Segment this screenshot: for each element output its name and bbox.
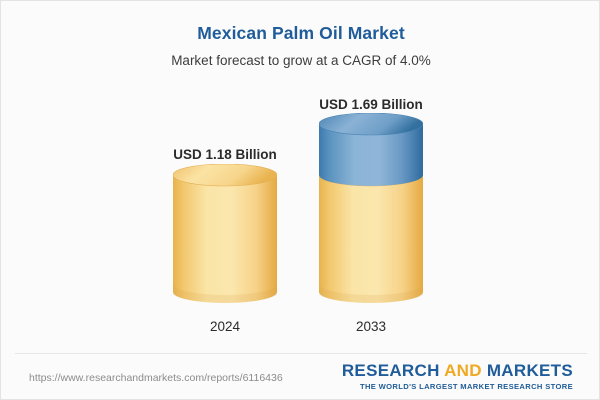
bar-2024-cylinder xyxy=(173,164,277,303)
plot-area: USD 1.18 Billion xyxy=(1,1,600,353)
footer-divider xyxy=(15,353,587,354)
bar-category-label-2033: 2033 xyxy=(271,319,471,334)
bar-2024[interactable] xyxy=(173,164,277,308)
logo-word-research: RESEARCH xyxy=(342,361,440,380)
bar-value-label-2033: USD 1.69 Billion xyxy=(271,97,471,112)
logo-word-markets: MARKETS xyxy=(487,361,573,380)
bar-2033-cylinder xyxy=(319,113,423,303)
source-url[interactable]: https://www.researchandmarkets.com/repor… xyxy=(29,372,283,384)
researchandmarkets-logo[interactable]: RESEARCH AND MARKETS THE WORLD'S LARGEST… xyxy=(342,362,573,391)
bar-value-label-2024: USD 1.18 Billion xyxy=(125,147,325,162)
logo-wordmark: RESEARCH AND MARKETS xyxy=(342,362,573,379)
bar-2033[interactable] xyxy=(319,113,423,308)
logo-tagline: THE WORLD'S LARGEST MARKET RESEARCH STOR… xyxy=(342,383,573,391)
logo-word-and: AND xyxy=(444,361,482,380)
chart-figure: Mexican Palm Oil Market Market forecast … xyxy=(0,0,600,400)
